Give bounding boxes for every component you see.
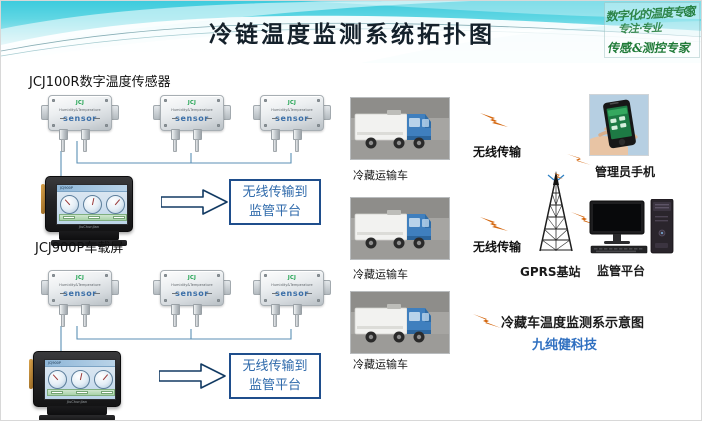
- sensor-word-label: sensor: [275, 114, 309, 123]
- screw-icon: [105, 274, 108, 277]
- refrigerated-truck-illustration: [351, 98, 449, 159]
- sensor-probe-stem: [83, 314, 87, 327]
- sensor-5[interactable]: JCJ Humidity&Temperature sensor: [153, 268, 231, 330]
- sensor-word-label: sensor: [175, 114, 209, 123]
- sensor-probe-stem: [195, 314, 199, 327]
- sensor-brand-label: JCJ: [188, 100, 196, 106]
- screw-icon: [105, 124, 108, 127]
- gauge-dial-3: [94, 370, 113, 389]
- diagram-caption: 冷藏车温度监测系示意图: [501, 312, 644, 331]
- logo-line-3: 传感&测控专家: [607, 39, 693, 56]
- lightning-bolt-icon-4: [473, 311, 503, 331]
- screw-icon: [105, 299, 108, 302]
- callout-line-2: 监管平台: [249, 202, 301, 221]
- arrow-right-icon-top: [161, 189, 229, 215]
- screen-display: JCJ900P: [44, 359, 116, 400]
- screw-icon: [217, 299, 220, 302]
- sensor-1[interactable]: JCJ Humidity&Temperature sensor: [41, 93, 119, 155]
- screw-icon: [52, 299, 55, 302]
- sensor-probe-stem: [173, 139, 177, 152]
- lightning-bolt-icon-2: [479, 213, 511, 235]
- sensor-brand-label: JCJ: [188, 275, 196, 281]
- display-header-text: JCJ900P: [60, 186, 73, 190]
- screen-brand-label: JiuChunJian: [67, 400, 87, 404]
- screw-icon: [164, 299, 167, 302]
- truck-photo-2: [350, 197, 450, 260]
- sensor-2[interactable]: JCJ Humidity&Temperature sensor: [153, 93, 231, 155]
- lightning-bolt-icon-phone: [567, 151, 593, 167]
- gauge-dial-1: [48, 370, 67, 389]
- wireless-label-2: 无线传输: [473, 238, 521, 255]
- screw-icon: [217, 99, 220, 102]
- callout-box-top: 无线传输到 监管平台: [229, 179, 321, 225]
- status-cell: [113, 216, 125, 219]
- sensor-brand-label: JCJ: [288, 275, 296, 281]
- callout-box-bottom: 无线传输到 监管平台: [229, 353, 321, 399]
- sensor-dash: [94, 293, 100, 294]
- screw-icon: [264, 274, 267, 277]
- display-header-bar: JCJ900P: [57, 185, 127, 192]
- sensor-dash: [94, 118, 100, 119]
- phone-label: 管理员手机: [595, 163, 655, 180]
- screen-bezel: JCJ900P JiuChunJian: [33, 351, 121, 407]
- sensor-enclosure: JCJ Humidity&Temperature sensor: [48, 95, 112, 131]
- admin-phone-photo: [589, 94, 649, 156]
- slide-canvas: 冷链温度监测系统拓扑图 数字化的温度专家 专注·专业 传感&测控专家 ® JCJ…: [0, 0, 702, 421]
- sensor-probe-stem: [273, 139, 277, 152]
- sensor-probe-stem: [61, 139, 65, 152]
- callout-line-1: 无线传输到: [242, 357, 307, 376]
- sensor-dash: [206, 118, 212, 119]
- tower-label: GPRS基站: [520, 263, 581, 280]
- sensor-brand-label: JCJ: [288, 100, 296, 106]
- vehicle-screen-bottom[interactable]: JCJ900P JiuChunJian: [29, 351, 124, 421]
- screw-icon: [217, 124, 220, 127]
- sensor-subtitle: Humidity&Temperature: [59, 283, 101, 287]
- truck-label-1: 冷藏运输车: [353, 167, 408, 183]
- display-header-bar: JCJ900P: [45, 360, 115, 367]
- screw-icon: [164, 274, 167, 277]
- screw-icon: [317, 274, 320, 277]
- desktop-computer-icon: [589, 199, 675, 257]
- company-name: 九纯健科技: [532, 334, 597, 353]
- sensor-subtitle: Humidity&Temperature: [271, 283, 313, 287]
- registered-mark-icon: ®: [684, 6, 695, 17]
- screw-icon: [317, 124, 320, 127]
- wireless-label-1: 无线传输: [473, 143, 521, 160]
- sensor-enclosure: JCJ Humidity&Temperature sensor: [48, 270, 112, 306]
- sensor-dash: [60, 118, 66, 119]
- sensor-dash: [60, 293, 66, 294]
- sensor-word-label: sensor: [63, 114, 97, 123]
- sensor-dash: [306, 118, 312, 119]
- screen-foot: [39, 415, 115, 421]
- sensor-probe-stem: [61, 314, 65, 327]
- gauge-dial-2: [83, 195, 102, 214]
- sensor-enclosure: JCJ Humidity&Temperature sensor: [160, 95, 224, 131]
- status-cell: [101, 391, 113, 394]
- sensor-probe-stem: [295, 139, 299, 152]
- screw-icon: [264, 124, 267, 127]
- sensor-enclosure: JCJ Humidity&Temperature sensor: [260, 270, 324, 306]
- header-banner: 冷链温度监测系统拓扑图 数字化的温度专家 专注·专业 传感&测控专家 ®: [1, 1, 702, 63]
- sensor-enclosure: JCJ Humidity&Temperature sensor: [260, 95, 324, 131]
- sensor-probe-stem: [83, 139, 87, 152]
- screw-icon: [264, 299, 267, 302]
- sensor-probe-stem: [273, 314, 277, 327]
- gauge-dial-2: [71, 370, 90, 389]
- screw-icon: [264, 99, 267, 102]
- hand-holding-phone-illustration: [590, 95, 648, 155]
- sensor-subtitle: Humidity&Temperature: [171, 283, 213, 287]
- platform-label: 监管平台: [597, 262, 645, 279]
- screen-brand-label: JiuChunJian: [79, 225, 99, 229]
- page-title: 冷链温度监测系统拓扑图: [1, 15, 702, 49]
- logo-line-2: 专注·专业: [617, 19, 664, 36]
- status-cell: [88, 216, 100, 219]
- sensor-dash: [172, 293, 178, 294]
- sensor-brand-label: JCJ: [76, 100, 84, 106]
- sensor-6[interactable]: JCJ Humidity&Temperature sensor: [253, 268, 331, 330]
- sensor-word-label: sensor: [63, 289, 97, 298]
- display-status-bar: [59, 214, 127, 221]
- truck-label-2: 冷藏运输车: [353, 266, 408, 282]
- status-cell: [63, 216, 75, 219]
- refrigerated-truck-illustration: [351, 292, 449, 353]
- gauge-dial-1: [60, 195, 79, 214]
- company-logo: 数字化的温度专家 专注·专业 传感&测控专家 ®: [604, 2, 700, 58]
- refrigerated-truck-illustration: [351, 198, 449, 259]
- sensor-probe-stem: [295, 314, 299, 327]
- callout-line-1: 无线传输到: [242, 183, 307, 202]
- lightning-bolt-icon-1: [479, 109, 511, 131]
- display-status-bar: [47, 389, 115, 396]
- screen-bezel: JCJ900P JiuChunJian: [45, 176, 133, 232]
- screw-icon: [52, 99, 55, 102]
- callout-line-2: 监管平台: [249, 376, 301, 395]
- sensor-dash: [306, 293, 312, 294]
- screw-icon: [105, 99, 108, 102]
- sensor-dash: [172, 118, 178, 119]
- truck-label-3: 冷藏运输车: [353, 356, 408, 372]
- sensor-enclosure: JCJ Humidity&Temperature sensor: [160, 270, 224, 306]
- monitoring-platform-pc: [589, 199, 675, 257]
- sensor-probe-stem: [173, 314, 177, 327]
- status-cell: [76, 391, 88, 394]
- screen-display: JCJ900P: [56, 184, 128, 225]
- sensor-word-label: sensor: [275, 289, 309, 298]
- screw-icon: [164, 99, 167, 102]
- sensor-3[interactable]: JCJ Humidity&Temperature sensor: [253, 93, 331, 155]
- screw-icon: [317, 299, 320, 302]
- section-title-sensors: JCJ100R数字温度传感器: [29, 71, 171, 90]
- vehicle-screen-label-top: JCJ900P车载屏: [35, 237, 123, 256]
- truck-photo-1: [350, 97, 450, 160]
- truck-photo-3: [350, 291, 450, 354]
- screw-icon: [217, 274, 220, 277]
- display-header-text: JCJ900P: [48, 361, 61, 365]
- sensor-subtitle: Humidity&Temperature: [271, 108, 313, 112]
- sensor-dash: [272, 293, 278, 294]
- sensor-brand-label: JCJ: [76, 275, 84, 281]
- screw-icon: [52, 274, 55, 277]
- screw-icon: [164, 124, 167, 127]
- sensor-probe-stem: [195, 139, 199, 152]
- screw-icon: [52, 124, 55, 127]
- sensor-subtitle: Humidity&Temperature: [171, 108, 213, 112]
- sensor-subtitle: Humidity&Temperature: [59, 108, 101, 112]
- sensor-dash: [272, 118, 278, 119]
- sensor-dash: [206, 293, 212, 294]
- gauge-dial-3: [106, 195, 125, 214]
- arrow-right-icon-bottom: [159, 363, 227, 389]
- sensor-word-label: sensor: [175, 289, 209, 298]
- sensor-4[interactable]: JCJ Humidity&Temperature sensor: [41, 268, 119, 330]
- status-cell: [51, 391, 63, 394]
- screw-icon: [317, 99, 320, 102]
